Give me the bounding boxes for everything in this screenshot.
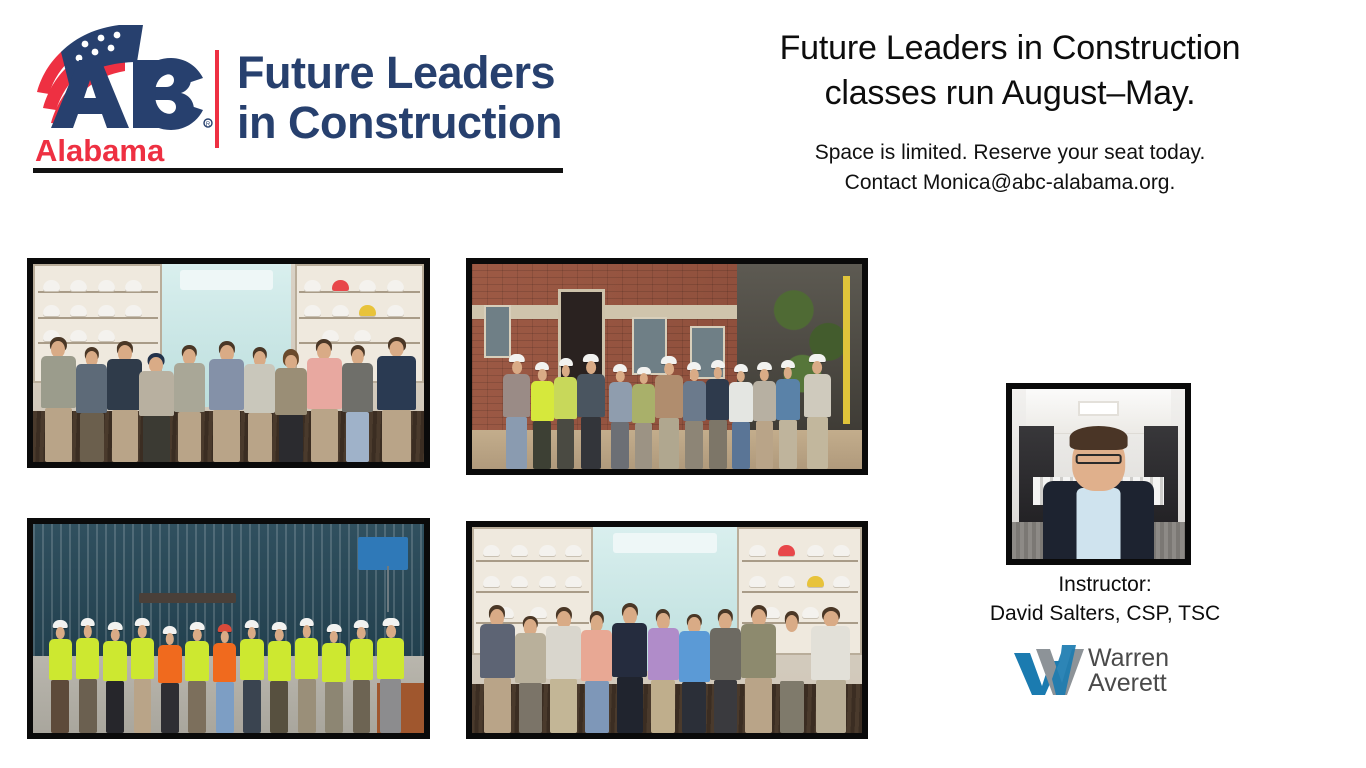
person: [577, 354, 604, 469]
headline-line-1: Future Leaders in Construction: [700, 26, 1320, 71]
gallery-photo-glass-building-site: [27, 518, 430, 739]
headline-block: Future Leaders in Construction classes r…: [700, 26, 1320, 198]
photo-content: [33, 524, 424, 733]
person: [546, 607, 581, 733]
person: [209, 341, 244, 462]
subheadline: Space is limited. Reserve your seat toda…: [700, 138, 1320, 198]
warren-averett-line-1: Warren: [1088, 644, 1169, 672]
brand-lockup: R Alabama Future Leaders in Construction: [33, 22, 573, 174]
brand-wordmark: Future Leaders in Construction: [237, 48, 617, 148]
person: [581, 611, 612, 733]
person: [811, 607, 850, 733]
gallery-photo-hardhat-room-second: [466, 521, 868, 739]
person: [776, 360, 799, 469]
scene-indoor-hardhat-room-2: [472, 527, 862, 733]
scene-brick-building: [472, 264, 862, 469]
person: [174, 345, 205, 462]
brand-wordmark-line-2: in Construction: [237, 98, 617, 148]
person: [41, 337, 76, 462]
brand-wordmark-line-1: Future Leaders: [237, 48, 617, 98]
person: [632, 367, 655, 470]
photo-content: [472, 527, 862, 733]
person: [655, 356, 682, 469]
scene-glass-building: [33, 524, 424, 733]
person: [103, 622, 126, 733]
person: [683, 362, 706, 469]
person: [295, 618, 318, 733]
instructor-label: Instructor:: [960, 570, 1250, 599]
person: [342, 345, 373, 462]
instructor-hair: [1069, 426, 1128, 450]
warren-averett-line-2: Averett: [1088, 669, 1167, 697]
person: [531, 362, 554, 469]
person: [706, 360, 729, 469]
person: [307, 339, 342, 462]
photo-content: [33, 264, 424, 462]
person: [776, 611, 807, 733]
person: [729, 364, 752, 469]
instructor-shirt: [1076, 488, 1121, 559]
gallery-photo-indoor-hardhat-room: [27, 258, 430, 468]
person: [377, 618, 404, 733]
person: [480, 605, 515, 733]
person: [377, 337, 416, 462]
person: [107, 341, 142, 462]
person: [804, 354, 831, 469]
person: [275, 349, 306, 462]
instructor-caption: Instructor: David Salters, CSP, TSC: [960, 570, 1250, 628]
photo-content: [472, 264, 862, 469]
person: [741, 605, 776, 733]
instructor-name: David Salters, CSP, TSC: [960, 599, 1250, 628]
headline-line-2: classes run August–May.: [700, 71, 1320, 116]
person: [244, 347, 275, 462]
subheadline-line-1: Space is limited. Reserve your seat toda…: [700, 138, 1320, 168]
subheadline-line-2: Contact Monica@abc-alabama.org.: [700, 168, 1320, 198]
person: [322, 624, 345, 733]
scene-boardroom-headshot: [1012, 389, 1185, 559]
page-title: Future Leaders in Construction classes r…: [700, 26, 1320, 116]
warren-averett-logo-icon: Warren Averett: [1012, 639, 1190, 697]
person: [609, 364, 632, 469]
abc-alabama-logo-icon: R Alabama: [33, 22, 215, 164]
person: [503, 354, 530, 469]
abc-chapter-label: Alabama: [35, 133, 165, 164]
person: [76, 618, 99, 733]
person: [350, 620, 373, 733]
svg-text:R: R: [206, 122, 211, 128]
person: [185, 622, 208, 733]
person: [268, 622, 291, 733]
person: [49, 620, 72, 733]
person: [76, 347, 107, 462]
person: [554, 358, 577, 469]
instructor-photo: [1006, 383, 1191, 565]
person: [753, 362, 776, 469]
scene-indoor-hardhat-room: [33, 264, 424, 462]
person: [515, 616, 546, 733]
person: [131, 618, 154, 733]
gallery-photo-brick-building-site: [466, 258, 868, 475]
brand-divider-bar: [215, 50, 219, 148]
person: [213, 624, 236, 733]
person: [158, 626, 181, 733]
person: [240, 620, 263, 733]
header-divider-rule: [33, 168, 563, 173]
person: [139, 353, 174, 462]
person: [648, 609, 679, 733]
person: [679, 614, 710, 733]
person: [710, 609, 741, 733]
person: [612, 603, 647, 733]
glasses-icon: [1075, 454, 1122, 464]
